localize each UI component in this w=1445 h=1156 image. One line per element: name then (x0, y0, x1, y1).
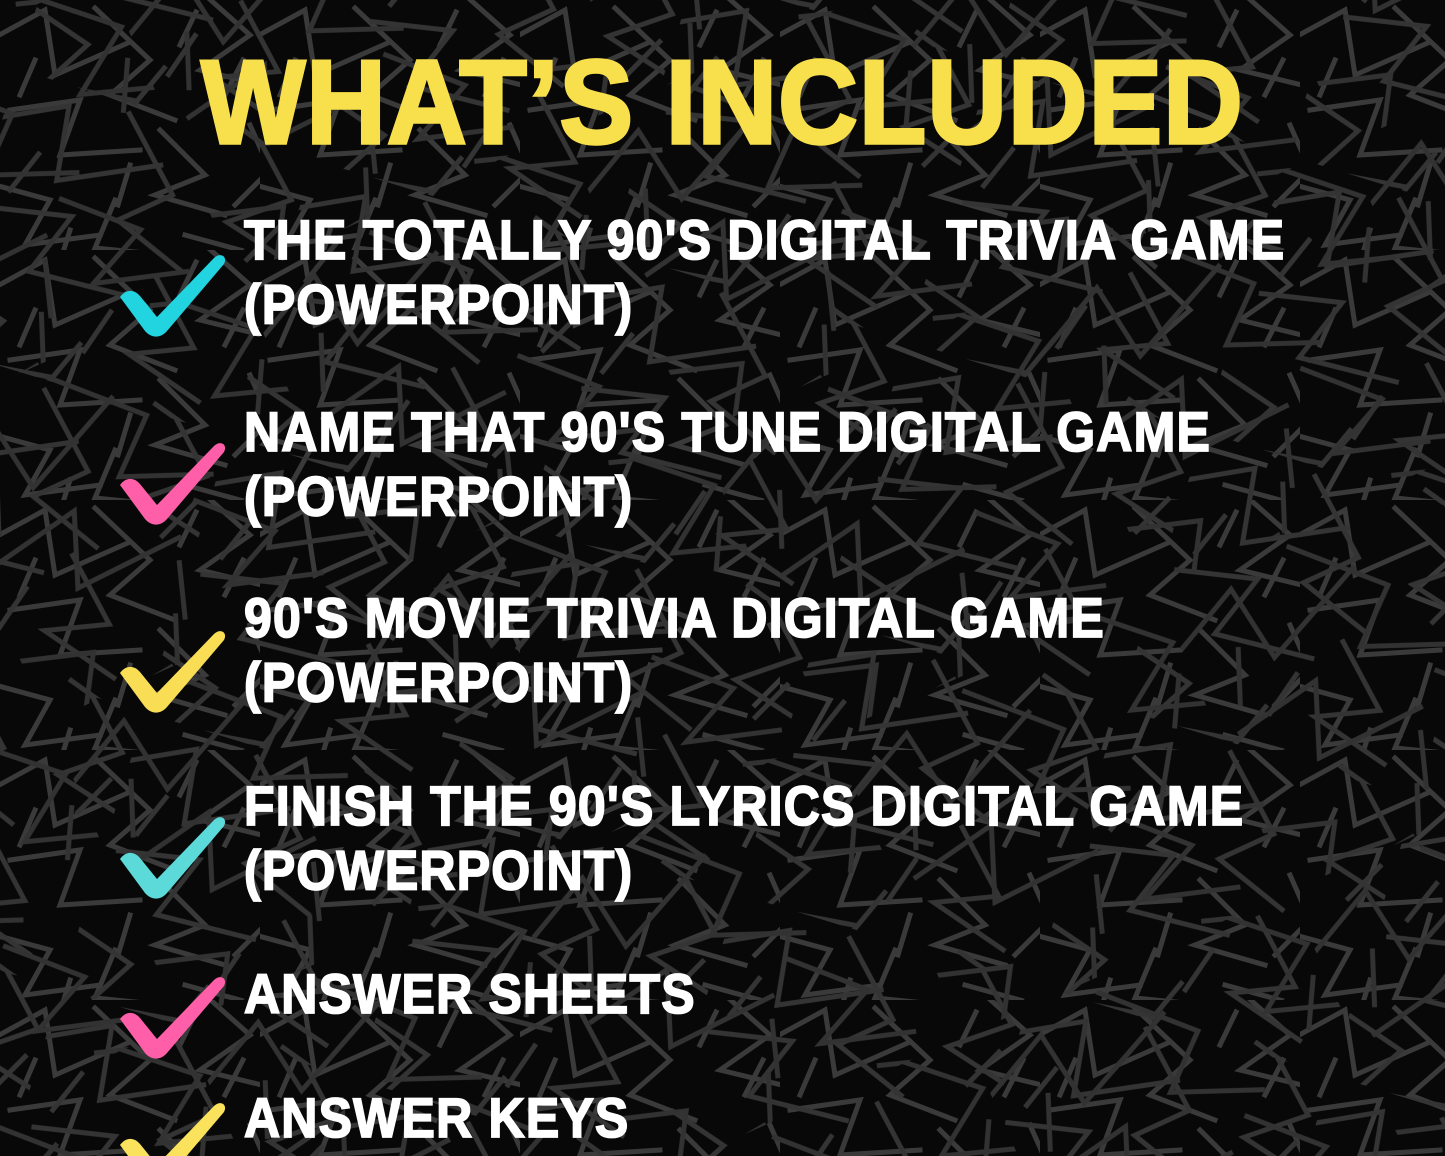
list-item-label: NAME THAT 90'S TUNE DIGITAL GAME (POWERP… (244, 397, 1349, 529)
check-icon-path (120, 443, 225, 525)
whats-included-graphic: WHAT’S INCLUDED THE TOTALLY 90'S DIGITAL… (0, 0, 1445, 1156)
check-icon-path (120, 631, 225, 713)
check-icon (110, 239, 238, 339)
check-icon (110, 801, 238, 901)
check-icon (110, 427, 238, 527)
list-item: ANSWER KEYS (0, 1083, 1445, 1156)
check-icon-path (120, 977, 225, 1059)
page-title: WHAT’S INCLUDED (0, 44, 1445, 163)
check-icon-path (120, 1103, 225, 1156)
list-item: ANSWER SHEETS (0, 959, 1445, 1061)
check-icon-path (120, 255, 225, 337)
list-item: NAME THAT 90'S TUNE DIGITAL GAME (POWERP… (0, 397, 1445, 527)
list-item-label: THE TOTALLY 90'S DIGITAL TRIVIA GAME (PO… (244, 205, 1349, 337)
check-icon (110, 961, 238, 1061)
check-icon (110, 615, 238, 715)
list-item-label: ANSWER KEYS (244, 1083, 1349, 1150)
list-item-label: 90'S MOVIE TRIVIA DIGITAL GAME (POWERPOI… (244, 583, 1349, 715)
check-icon-path (120, 817, 225, 899)
list-item: FINISH THE 90'S LYRICS DIGITAL GAME (POW… (0, 771, 1445, 901)
list-item: THE TOTALLY 90'S DIGITAL TRIVIA GAME (PO… (0, 205, 1445, 339)
included-items-list: THE TOTALLY 90'S DIGITAL TRIVIA GAME (PO… (0, 205, 1445, 1156)
list-item-label: ANSWER SHEETS (244, 959, 1349, 1026)
list-item: 90'S MOVIE TRIVIA DIGITAL GAME (POWERPOI… (0, 583, 1445, 715)
check-icon (110, 1087, 238, 1156)
list-item-label: FINISH THE 90'S LYRICS DIGITAL GAME (POW… (244, 771, 1349, 903)
